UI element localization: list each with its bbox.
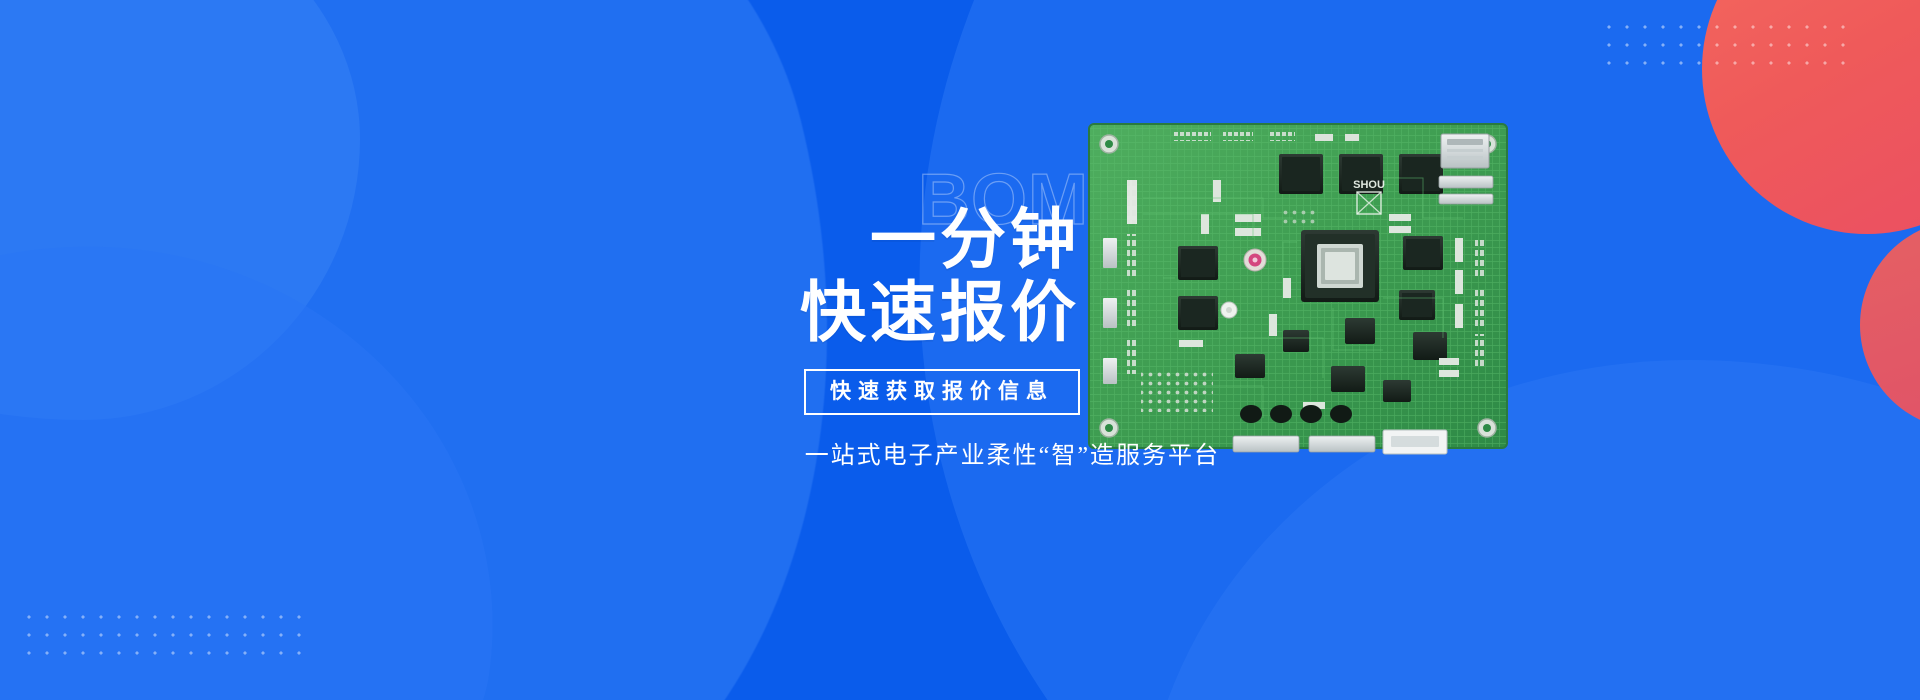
tagline: 一站式电子产业柔性“智”造服务平台 <box>600 435 1220 470</box>
pink-capacitor <box>1244 249 1266 271</box>
main-processor <box>1301 230 1379 302</box>
via-pad-field <box>1141 368 1213 412</box>
dot-grid-bottom-left <box>20 608 302 664</box>
svg-text:SHOU: SHOU <box>1353 179 1385 191</box>
hero-text-block: BOMBOM 一分钟 快速报价 快速获取报价信息 一站式电子产业柔性“智”造服务… <box>600 150 1080 470</box>
pcb-board-svg: SHOU <box>1083 118 1513 458</box>
headline: 一分钟 快速报价 <box>600 206 1080 347</box>
pcb-board-image: SHOU <box>1083 118 1513 458</box>
right-pin-header <box>1475 238 1485 370</box>
headline-line-1: 一分钟 <box>600 206 1080 273</box>
dot-grid-top-right <box>1600 18 1846 74</box>
white-capacitor <box>1221 302 1237 318</box>
headline-line-2: 快速报价 <box>600 279 1080 346</box>
cta-button[interactable]: 快速获取报价信息 <box>804 369 1080 415</box>
promo-banner: BOMBOM 一分钟 快速报价 快速获取报价信息 一站式电子产业柔性“智”造服务… <box>0 0 1920 700</box>
